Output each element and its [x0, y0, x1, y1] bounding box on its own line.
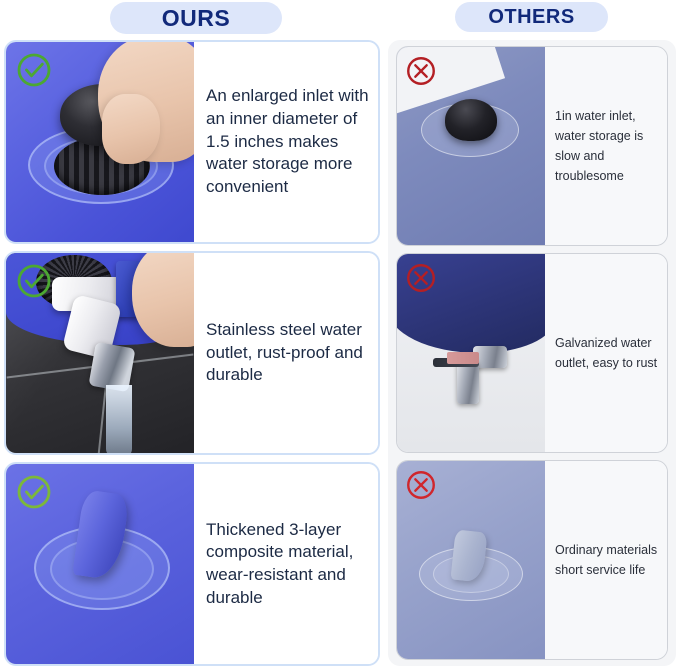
- others-photo-outlet: [397, 254, 545, 452]
- check-circle-icon: [14, 261, 54, 301]
- others-text-material: Ordinary materials short service life: [545, 461, 667, 659]
- others-photo-inlet: [397, 47, 545, 245]
- others-card-material: Ordinary materials short service life: [396, 460, 668, 660]
- ours-photo-inlet: [6, 42, 194, 242]
- others-text-outlet: Galvanized water outlet, easy to rust: [545, 254, 667, 452]
- ours-card-material: Thickened 3-layer composite material, we…: [4, 462, 380, 666]
- ours-column: An enlarged inlet with an inner diameter…: [4, 40, 380, 666]
- ours-header-badge: OURS: [110, 2, 282, 34]
- comparison-infographic: OURS OTHERS An enlarged inlet with a: [0, 0, 679, 670]
- cross-circle-icon: [404, 468, 438, 502]
- others-photo-material: [397, 461, 545, 659]
- ours-photo-material: [6, 464, 194, 664]
- cross-circle-icon: [404, 54, 438, 88]
- others-header-badge: OTHERS: [455, 2, 608, 32]
- ours-photo-outlet: [6, 253, 194, 453]
- others-column: 1in water inlet, water storage is slow a…: [388, 40, 676, 666]
- others-text-inlet: 1in water inlet, water storage is slow a…: [545, 47, 667, 245]
- others-card-inlet: 1in water inlet, water storage is slow a…: [396, 46, 668, 246]
- ours-text-material: Thickened 3-layer composite material, we…: [194, 464, 378, 664]
- others-card-outlet: Galvanized water outlet, easy to rust: [396, 253, 668, 453]
- cross-circle-icon: [404, 261, 438, 295]
- check-circle-icon: [14, 472, 54, 512]
- ours-text-outlet: Stainless steel water outlet, rust-proof…: [194, 253, 378, 453]
- ours-card-outlet: Stainless steel water outlet, rust-proof…: [4, 251, 380, 455]
- check-circle-icon: [14, 50, 54, 90]
- ours-text-inlet: An enlarged inlet with an inner diameter…: [194, 42, 378, 242]
- ours-card-inlet: An enlarged inlet with an inner diameter…: [4, 40, 380, 244]
